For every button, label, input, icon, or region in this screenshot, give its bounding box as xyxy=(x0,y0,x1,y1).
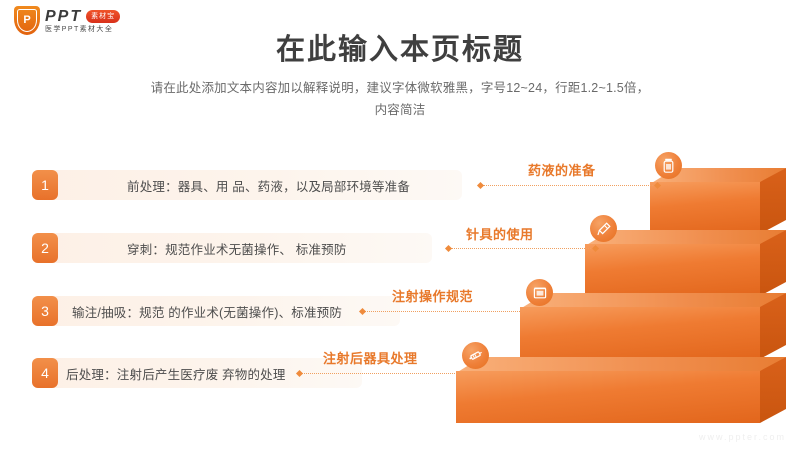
step-row-1[interactable]: 1 前处理：器具、用 品、药液，以及局部环境等准备 xyxy=(32,170,462,200)
stair-step-4 xyxy=(456,357,786,423)
step-text-2: 穿刺：规范作业术无菌操作、 标准预防 xyxy=(127,239,347,258)
step-text-4: 后处理：注射后产生医疗废 弃物的处理 xyxy=(66,364,286,383)
site-watermark: www.ppter.com xyxy=(699,432,786,442)
stair-step-3-front xyxy=(520,307,760,359)
connector-dots-4 xyxy=(302,373,467,374)
syringe-needle-icon xyxy=(590,215,617,242)
step-row-3[interactable]: 3 输注/抽吸：规范 的作业术(无菌操作)、标准预防 xyxy=(32,296,400,326)
step-number-3: 3 xyxy=(32,296,58,326)
stair-step-4-front xyxy=(456,371,760,423)
step-text-3: 输注/抽吸：规范 的作业术(无菌操作)、标准预防 xyxy=(72,302,342,321)
step-number-4: 4 xyxy=(32,358,58,388)
stair-step-2 xyxy=(585,230,786,296)
step-connector-4 xyxy=(297,372,472,374)
step-connector-1 xyxy=(478,184,660,186)
stair-step-1-front xyxy=(650,182,760,234)
step-connector-3 xyxy=(360,310,535,312)
step-connector-2 xyxy=(446,247,598,249)
medicine-vial-icon xyxy=(655,152,682,179)
staircase-graphic xyxy=(440,150,790,430)
page-subtitle: 请在此处添加文本内容加以解释说明，建议字体微软雅黑，字号12~24，行距1.2~… xyxy=(150,78,650,122)
page-title: 在此输入本页标题 xyxy=(0,26,800,68)
step-label-3: 注射操作规范 xyxy=(392,286,473,305)
slide-canvas: P PPT 素材宝 医学PPT素材大全 在此输入本页标题 请在此处添加文本内容加… xyxy=(0,0,800,450)
logo-brand-name: PPT xyxy=(45,9,82,25)
connector-dots-2 xyxy=(451,248,593,249)
logo-mark-letter: P xyxy=(23,15,30,26)
step-number-2: 2 xyxy=(32,233,58,263)
step-text-1: 前处理：器具、用 品、药液，以及局部环境等准备 xyxy=(127,176,410,195)
supply-box-icon xyxy=(526,279,553,306)
step-label-4: 注射后器具处理 xyxy=(323,348,418,367)
logo-primary-row: PPT 素材宝 xyxy=(45,9,120,25)
step-number-1: 1 xyxy=(32,170,58,200)
connector-dots-1 xyxy=(483,185,655,186)
step-label-1: 药液的准备 xyxy=(528,160,596,179)
stair-step-3 xyxy=(520,293,786,359)
step-label-2: 针具的使用 xyxy=(466,224,534,243)
step-row-2[interactable]: 2 穿刺：规范作业术无菌操作、 标准预防 xyxy=(32,233,432,263)
logo-badge: 素材宝 xyxy=(86,10,120,23)
connector-dots-3 xyxy=(365,311,530,312)
stair-step-2-front xyxy=(585,244,760,296)
syringe-disposal-icon xyxy=(462,342,489,369)
